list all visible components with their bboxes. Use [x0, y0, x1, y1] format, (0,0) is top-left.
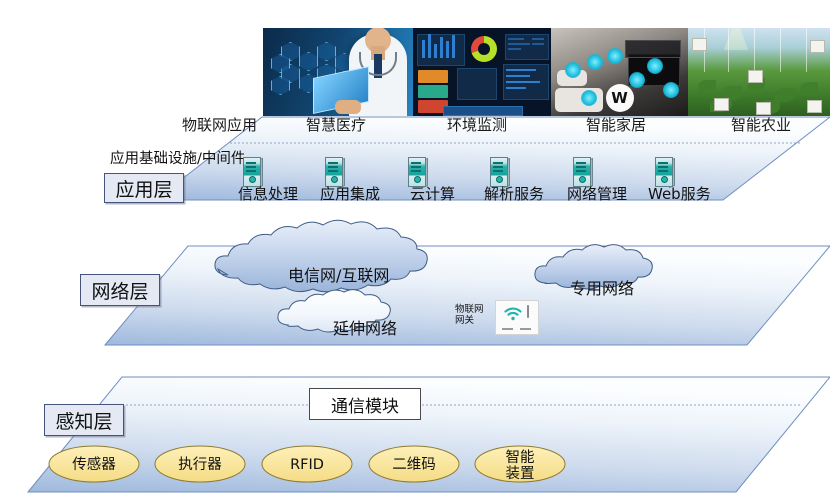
- server-icon: [408, 157, 428, 185]
- gateway-label: 物联网 网关: [455, 305, 484, 327]
- application-service-3[interactable]: 解析服务: [484, 187, 544, 202]
- layer-tag-application-label: 应用层: [115, 175, 172, 202]
- application-category-3: 智能家居: [586, 118, 646, 133]
- application-service-5[interactable]: Web服务: [648, 187, 711, 202]
- application-service-2[interactable]: 云计算: [410, 187, 455, 202]
- application-service-4[interactable]: 网络管理: [567, 187, 627, 202]
- communication-module-label: 通信模块: [331, 392, 399, 417]
- layer-tag-perception: 感知层: [44, 404, 124, 436]
- server-icon: [573, 157, 593, 185]
- layer-tag-network-label: 网络层: [91, 277, 148, 304]
- application-category-2: 环境监测: [447, 118, 507, 133]
- perception-node-label-4-line1: 智能: [475, 450, 565, 466]
- layer-tag-network: 网络层: [80, 274, 160, 306]
- perception-node-label-3[interactable]: 二维码: [369, 457, 459, 473]
- perception-node-label-2[interactable]: RFID: [262, 457, 352, 473]
- wifi-router-icon: [495, 300, 539, 335]
- cloud-label-extension-network: 延伸网络: [333, 315, 397, 339]
- server-icon: [243, 157, 263, 185]
- application-infrastructure-label: 应用基础设施/中间件: [110, 152, 245, 167]
- application-service-1[interactable]: 应用集成: [320, 187, 380, 202]
- gateway-label-line2: 网关: [455, 316, 484, 327]
- cloud-label-telecom-internet: 电信网/互联网: [288, 262, 389, 286]
- wifi-signal-icon: [504, 307, 522, 321]
- layer-planes: [0, 0, 830, 499]
- perception-node-label-1[interactable]: 执行器: [155, 457, 245, 473]
- communication-module-box: 通信模块: [309, 388, 421, 420]
- application-service-0[interactable]: 信息处理: [238, 187, 298, 202]
- layer-tag-application: 应用层: [104, 173, 184, 203]
- application-category-4: 智能农业: [731, 118, 791, 133]
- perception-node-label-4-line2: 装置: [475, 466, 565, 482]
- cloud-label-private-network: 专用网络: [570, 275, 634, 299]
- server-icon: [655, 157, 675, 185]
- iot-architecture-diagram: W: [0, 0, 830, 499]
- application-category-0: 物联网应用: [182, 118, 257, 133]
- server-icon: [325, 157, 345, 185]
- perception-node-label-0[interactable]: 传感器: [49, 457, 139, 473]
- network-layer-plane: [105, 246, 830, 345]
- perception-node-label-4[interactable]: 智能 装置: [475, 450, 565, 482]
- application-category-1: 智慧医疗: [306, 118, 366, 133]
- server-icon: [490, 157, 510, 185]
- layer-tag-perception-label: 感知层: [55, 407, 112, 434]
